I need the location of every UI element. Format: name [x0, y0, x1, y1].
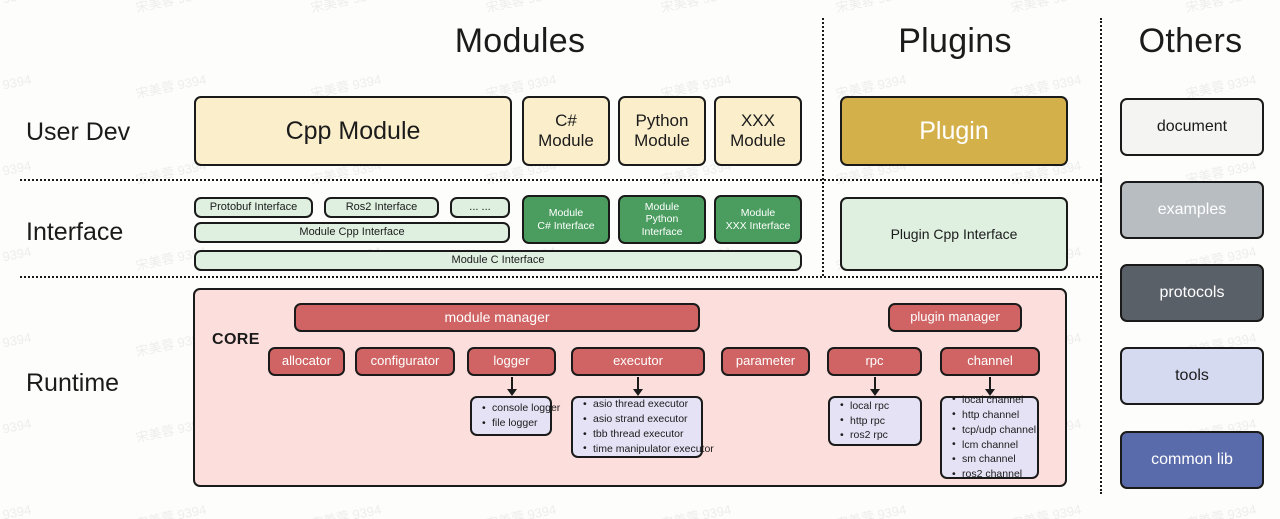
executor-label: executor — [613, 354, 663, 369]
others-item-examples[interactable]: examples — [1120, 181, 1264, 239]
rpc-box[interactable]: rpc — [827, 347, 922, 376]
channel-details-box: local channelhttp channeltcp/udp channel… — [940, 396, 1039, 479]
module-python-interface-label: Module Python Interface — [624, 201, 700, 237]
csharp-module-box[interactable]: C# Module — [522, 96, 610, 166]
channel-details-list: local channelhttp channeltcp/udp channel… — [948, 393, 1036, 482]
executor-details-list: asio thread executorasio strand executor… — [579, 397, 711, 457]
configurator-label: configurator — [371, 354, 440, 369]
others-item-tools-label: tools — [1175, 367, 1209, 385]
detail-list-item: tcp/udp channel — [962, 423, 1036, 438]
module-xxx-interface-label: Module XXX Interface — [726, 207, 791, 231]
detail-list-item: local rpc — [850, 399, 916, 414]
detail-list-item: asio strand executor — [593, 412, 711, 427]
column-header-modules-label: Modules — [455, 22, 586, 60]
more-interface-label: ... ... — [469, 201, 490, 214]
parameter-label: parameter — [736, 354, 795, 369]
plugin-manager-label: plugin manager — [910, 310, 1000, 325]
divider-plugins-others — [1100, 18, 1102, 494]
detail-list-item: local channel — [962, 393, 1036, 408]
detail-list-item: http rpc — [850, 414, 916, 429]
module-csharp-interface-label: Module C# Interface — [537, 207, 594, 231]
column-header-others-label: Others — [1139, 22, 1243, 60]
logger-details-box: console loggerfile logger — [470, 396, 552, 436]
module-manager-box[interactable]: module manager — [294, 303, 700, 332]
ros2-interface-box[interactable]: Ros2 Interface — [324, 197, 439, 218]
ros2-interface-label: Ros2 Interface — [346, 201, 418, 214]
module-python-interface-box[interactable]: Module Python Interface — [618, 195, 706, 244]
channel-label: channel — [967, 354, 1013, 369]
rpc-label: rpc — [865, 354, 883, 369]
allocator-box[interactable]: allocator — [268, 347, 345, 376]
detail-list-item: tbb thread executor — [593, 427, 711, 442]
logger-label: logger — [493, 354, 529, 369]
row-label-runtime-text: Runtime — [26, 369, 119, 397]
module-csharp-interface-box[interactable]: Module C# Interface — [522, 195, 610, 244]
allocator-label: allocator — [282, 354, 331, 369]
core-title: CORE — [212, 331, 260, 349]
channel-box[interactable]: channel — [940, 347, 1040, 376]
others-item-examples-label: examples — [1158, 201, 1226, 219]
logger-arrow-icon — [505, 377, 519, 396]
detail-list-item: asio thread executor — [593, 397, 711, 412]
others-item-document[interactable]: document — [1120, 98, 1264, 156]
parameter-box[interactable]: parameter — [721, 347, 810, 376]
column-header-plugins: Plugins — [840, 22, 1070, 61]
detail-list-item: lcm channel — [962, 438, 1036, 453]
python-module-label: Python Module — [634, 111, 690, 150]
others-item-tools[interactable]: tools — [1120, 347, 1264, 405]
row-label-user-dev: User Dev — [26, 118, 130, 147]
rpc-arrow-icon — [868, 377, 882, 396]
column-header-plugins-label: Plugins — [898, 22, 1012, 60]
divider-modules-plugins — [822, 18, 824, 276]
more-interface-box[interactable]: ... ... — [450, 197, 510, 218]
detail-list-item: time manipulator executor — [593, 442, 711, 457]
core-title-text: CORE — [212, 331, 260, 348]
others-item-common-lib[interactable]: common lib — [1120, 431, 1264, 489]
detail-list-item: file logger — [492, 416, 560, 431]
module-c-interface-label: Module C Interface — [452, 254, 545, 267]
module-xxx-interface-box[interactable]: Module XXX Interface — [714, 195, 802, 244]
plugin-label: Plugin — [919, 117, 989, 146]
python-module-box[interactable]: Python Module — [618, 96, 706, 166]
protobuf-interface-label: Protobuf Interface — [210, 201, 297, 214]
architecture-diagram: 宋美蓉 9394宋美蓉 9394宋美蓉 9394宋美蓉 9394宋美蓉 9394… — [0, 0, 1280, 519]
row-label-interface-text: Interface — [26, 218, 123, 246]
others-item-protocols[interactable]: protocols — [1120, 264, 1264, 322]
detail-list-item: sm channel — [962, 452, 1036, 467]
rpc-details-box: local rpchttp rpcros2 rpc — [828, 396, 922, 446]
cpp-module-label: Cpp Module — [286, 117, 421, 146]
xxx-module-label: XXX Module — [730, 111, 786, 150]
row-label-runtime: Runtime — [26, 369, 119, 398]
column-header-modules: Modules — [260, 22, 780, 61]
column-header-others: Others — [1108, 22, 1273, 61]
detail-list-item: console logger — [492, 401, 560, 416]
plugin-manager-box[interactable]: plugin manager — [888, 303, 1022, 332]
xxx-module-box[interactable]: XXX Module — [714, 96, 802, 166]
module-cpp-interface-box[interactable]: Module Cpp Interface — [194, 222, 510, 243]
module-c-interface-box[interactable]: Module C Interface — [194, 250, 802, 271]
detail-list-item: ros2 rpc — [850, 428, 916, 443]
executor-box[interactable]: executor — [571, 347, 705, 376]
others-item-document-label: document — [1157, 118, 1227, 136]
csharp-module-label: C# Module — [538, 111, 594, 150]
detail-list-item: http channel — [962, 408, 1036, 423]
divider-interface-runtime — [20, 276, 1102, 278]
executor-details-box: asio thread executorasio strand executor… — [571, 396, 703, 458]
rpc-details-list: local rpchttp rpcros2 rpc — [836, 399, 916, 444]
cpp-module-box[interactable]: Cpp Module — [194, 96, 512, 166]
others-item-common-lib-label: common lib — [1151, 451, 1233, 469]
plugin-box[interactable]: Plugin — [840, 96, 1068, 166]
module-cpp-interface-label: Module Cpp Interface — [299, 226, 404, 239]
logger-details-list: console loggerfile logger — [478, 401, 560, 431]
module-manager-label: module manager — [444, 309, 549, 325]
logger-box[interactable]: logger — [467, 347, 556, 376]
plugin-cpp-interface-label: Plugin Cpp Interface — [891, 226, 1018, 242]
row-label-interface: Interface — [26, 218, 123, 247]
row-label-user-dev-text: User Dev — [26, 118, 130, 146]
detail-list-item: ros2 channel — [962, 467, 1036, 482]
divider-userdev-interface — [20, 179, 1102, 181]
executor-arrow-icon — [631, 377, 645, 396]
others-item-protocols-label: protocols — [1160, 284, 1225, 302]
configurator-box[interactable]: configurator — [355, 347, 455, 376]
plugin-cpp-interface-box[interactable]: Plugin Cpp Interface — [840, 197, 1068, 271]
protobuf-interface-box[interactable]: Protobuf Interface — [194, 197, 313, 218]
